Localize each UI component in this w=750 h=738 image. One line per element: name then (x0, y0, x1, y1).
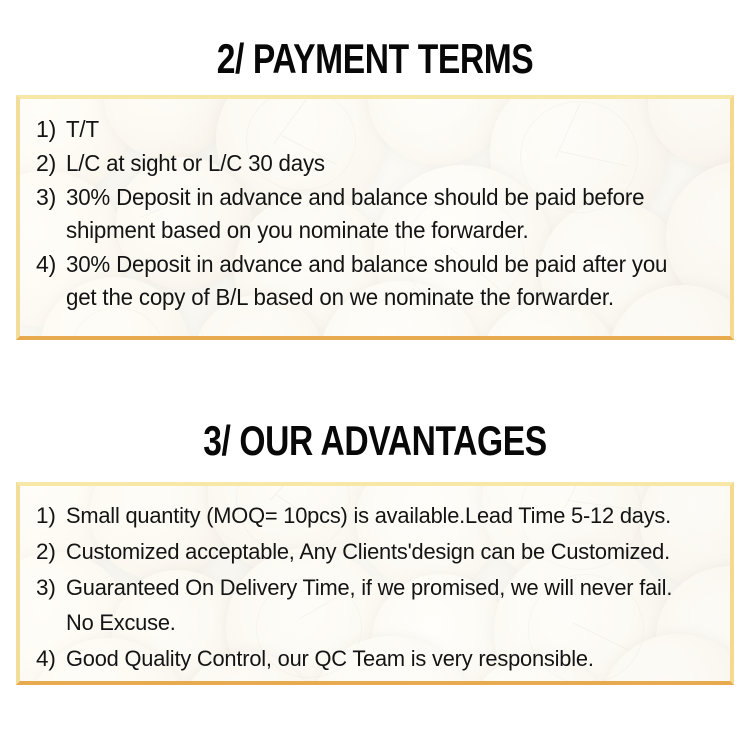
list-item-text: Small quantity (MOQ= 10pcs) is available… (66, 498, 695, 533)
list-item-text: Customized acceptable, Any Clients'desig… (66, 534, 695, 569)
our-advantages-heading: 3/ OUR ADVANTAGES (75, 420, 675, 462)
payment-terms-list: 1) T/T 2) L/C at sight or L/C 30 days 3)… (20, 99, 730, 336)
list-item: 1) Small quantity (MOQ= 10pcs) is availa… (36, 498, 714, 533)
product-info-page: 2/ PAYMENT TERMS (0, 0, 750, 738)
list-item: 1) T/T (36, 113, 714, 146)
list-item: 2) L/C at sight or L/C 30 days (36, 147, 714, 180)
list-item-marker: 2) (36, 147, 66, 180)
list-item-text: 30% Deposit in advance and balance shoul… (66, 181, 695, 247)
our-advantages-box: 1) Small quantity (MOQ= 10pcs) is availa… (16, 482, 734, 685)
list-item-text: Guaranteed On Delivery Time, if we promi… (66, 570, 695, 640)
list-item-text: L/C at sight or L/C 30 days (66, 147, 695, 180)
list-item-marker: 4) (36, 248, 66, 281)
list-item-marker: 1) (36, 113, 66, 146)
our-advantages-list: 1) Small quantity (MOQ= 10pcs) is availa… (20, 486, 730, 681)
list-item: 3) Guaranteed On Delivery Time, if we pr… (36, 570, 714, 640)
list-item-marker: 1) (36, 498, 66, 533)
list-item-marker: 2) (36, 534, 66, 569)
list-item: 4) Good Quality Control, our QC Team is … (36, 641, 714, 676)
payment-terms-box: 1) T/T 2) L/C at sight or L/C 30 days 3)… (16, 95, 734, 340)
list-item-text: Good Quality Control, our QC Team is ver… (66, 641, 695, 676)
list-item-marker: 3) (36, 570, 66, 605)
payment-terms-heading: 2/ PAYMENT TERMS (75, 38, 675, 80)
list-item-marker: 4) (36, 641, 66, 676)
list-item: 2) Customized acceptable, Any Clients'de… (36, 534, 714, 569)
list-item: 4) 30% Deposit in advance and balance sh… (36, 248, 714, 314)
list-item-text: T/T (66, 113, 695, 146)
list-item-text: 30% Deposit in advance and balance shoul… (66, 248, 695, 314)
list-item-marker: 3) (36, 181, 66, 214)
list-item: 3) 30% Deposit in advance and balance sh… (36, 181, 714, 247)
